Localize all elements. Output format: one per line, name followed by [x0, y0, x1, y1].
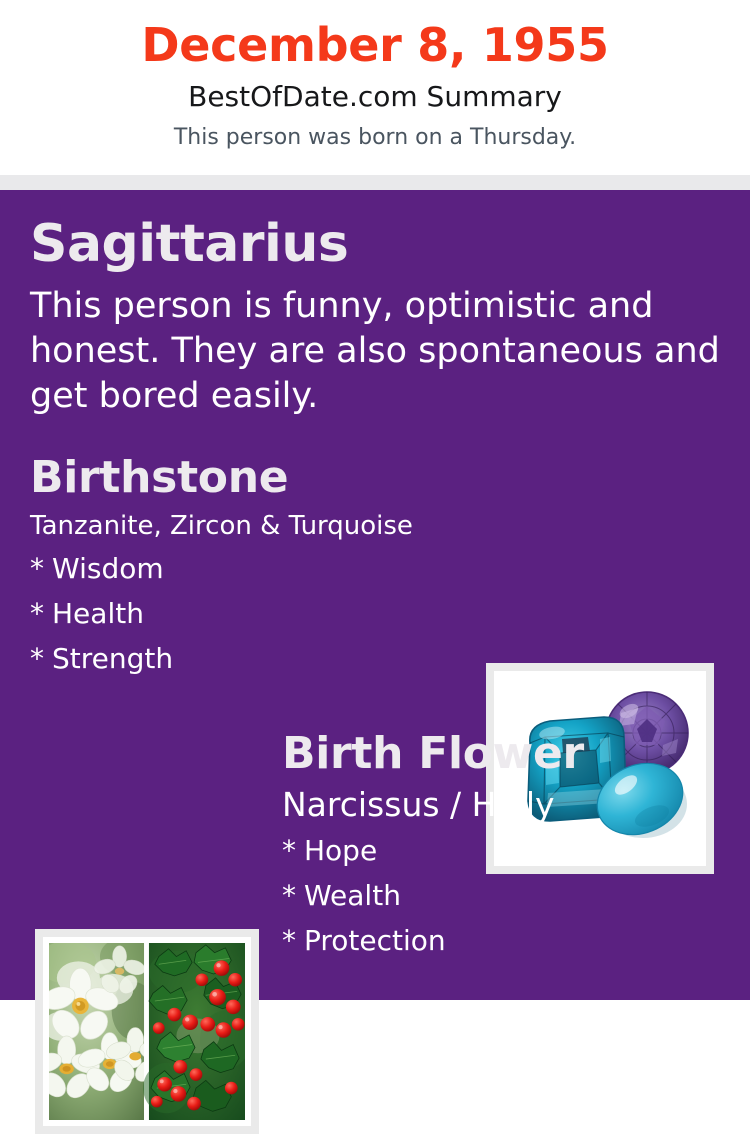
- birthflower-traits-list: *Hope *Wealth *Protection: [282, 821, 750, 972]
- list-item: *Wisdom: [30, 555, 750, 600]
- header-divider: [0, 175, 750, 190]
- zodiac-description: This person is funny, optimistic and hon…: [30, 270, 724, 418]
- birthflower-trait-label: Hope: [304, 834, 377, 867]
- birth-date-title: December 8, 1955: [0, 22, 750, 68]
- birthstone-trait-label: Wisdom: [52, 552, 164, 585]
- site-name-subtitle: BestOfDate.com Summary: [0, 68, 750, 111]
- bullet-star-icon: *: [30, 642, 52, 675]
- bullet-star-icon: *: [282, 879, 304, 912]
- flowers-illustration: [49, 943, 245, 1120]
- birthday-summary-poster: December 8, 1955 BestOfDate.com Summary …: [0, 0, 750, 1000]
- birthstone-names: Tanzanite, Zircon & Turquoise: [30, 500, 750, 539]
- birthflower-photo: [35, 929, 259, 1134]
- list-item: *Hope: [282, 837, 750, 882]
- zodiac-section: Sagittarius This person is funny, optimi…: [0, 190, 750, 418]
- birthflower-trait-label: Protection: [304, 924, 446, 957]
- day-of-week-note: This person was born on a Thursday.: [0, 111, 750, 149]
- zodiac-sign-title: Sagittarius: [30, 218, 724, 270]
- bullet-star-icon: *: [282, 834, 304, 867]
- bullet-star-icon: *: [30, 597, 52, 630]
- bullet-star-icon: *: [282, 924, 304, 957]
- list-item: *Wealth: [282, 882, 750, 927]
- list-item: *Protection: [282, 927, 750, 972]
- birthstone-trait-label: Health: [52, 597, 144, 630]
- list-item: *Health: [30, 600, 750, 645]
- birthstone-section: Birthstone Tanzanite, Zircon & Turquoise…: [0, 418, 750, 690]
- poster-body: Sagittarius This person is funny, optimi…: [0, 190, 750, 1000]
- holly-panel: [143, 943, 245, 1120]
- poster-header: December 8, 1955 BestOfDate.com Summary …: [0, 0, 750, 175]
- birthflower-trait-label: Wealth: [304, 879, 401, 912]
- birthstone-title: Birthstone: [30, 456, 750, 500]
- birthflower-title: Birth Flower: [282, 732, 750, 776]
- birthflower-names: Narcissus / Holly: [282, 776, 750, 821]
- birthstone-text-column: Birthstone Tanzanite, Zircon & Turquoise…: [0, 456, 750, 690]
- birthflower-photo-inner: [43, 937, 251, 1126]
- birthstone-trait-label: Strength: [52, 642, 173, 675]
- bullet-star-icon: *: [30, 552, 52, 585]
